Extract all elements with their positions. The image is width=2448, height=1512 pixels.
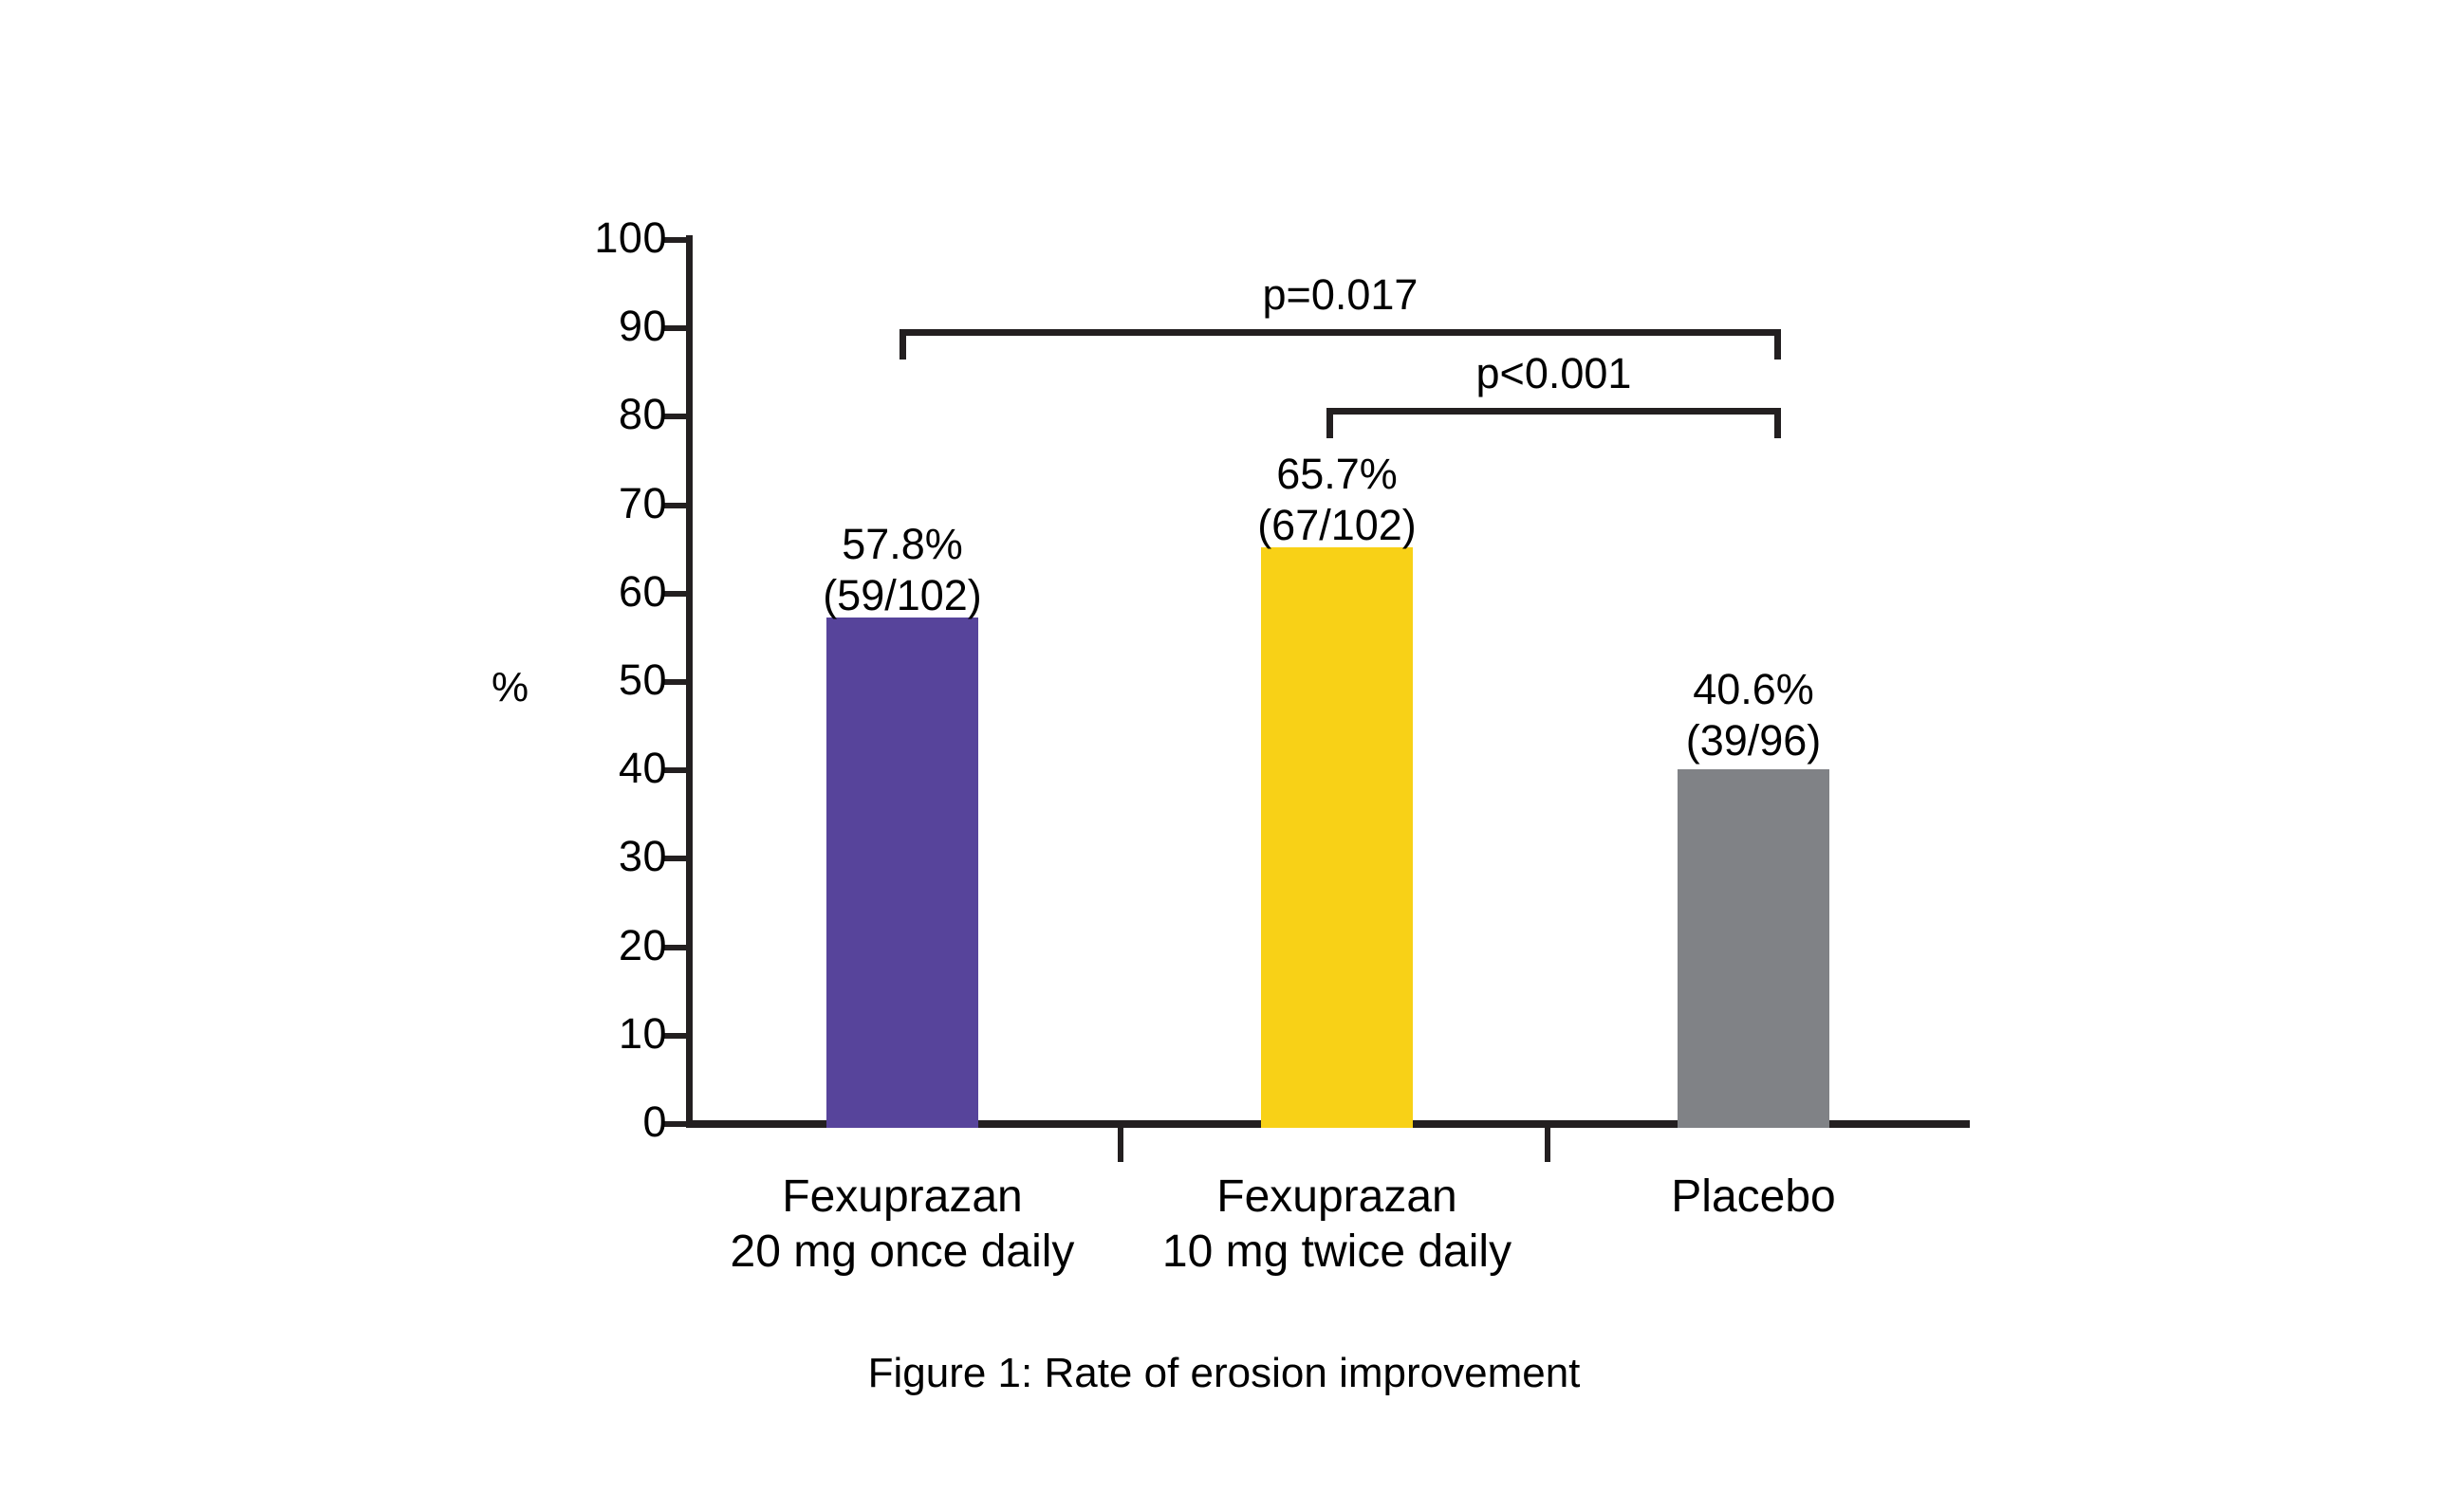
y-axis-label-0: 0: [642, 1100, 667, 1143]
y-axis-tick-40: [664, 767, 687, 773]
y-axis-label-70: 70: [619, 482, 667, 525]
y-axis-label-30: 30: [619, 835, 667, 877]
y-axis-label-40: 40: [619, 747, 667, 789]
y-axis-tick-100: [664, 237, 687, 243]
significance-label-2: p<0.001: [1326, 352, 1781, 395]
bar-value-label-fexuprazan-20mg-once-daily: 57.8% (59/102): [694, 519, 1111, 621]
y-axis-label-10: 10: [619, 1012, 667, 1055]
bar-percent-fexuprazan-10mg-twice-daily: 65.7%: [1128, 449, 1546, 500]
x-axis-category-fexuprazan-20mg-once-daily: Fexuprazan 20 mg once daily: [694, 1170, 1111, 1280]
x-axis-category-fexuprazan-10mg-twice-daily: Fexuprazan 10 mg twice daily: [1128, 1170, 1546, 1280]
category-line1-fexuprazan-10mg-twice-daily: Fexuprazan: [1128, 1170, 1546, 1225]
bar-fraction-fexuprazan-10mg-twice-daily: (67/102): [1128, 500, 1546, 551]
significance-bracket-2-right-end: [1774, 408, 1781, 438]
y-axis-tick-0: [664, 1121, 687, 1127]
y-axis-line: [686, 235, 693, 1128]
bar-percent-placebo: 40.6%: [1545, 664, 1962, 715]
y-axis-label-50: 50: [619, 658, 667, 701]
y-axis-tick-80: [664, 414, 687, 419]
category-line1-fexuprazan-20mg-once-daily: Fexuprazan: [694, 1170, 1111, 1225]
y-axis-label-20: 20: [619, 924, 667, 967]
x-axis-category-placebo: Placebo: [1545, 1170, 1962, 1225]
bar-fraction-fexuprazan-20mg-once-daily: (59/102): [694, 570, 1111, 621]
significance-bracket-2-left-end: [1326, 408, 1333, 438]
bar-percent-fexuprazan-20mg-once-daily: 57.8%: [694, 519, 1111, 570]
significance-bracket-1-bar: [899, 329, 1781, 336]
significance-bracket-2-bar: [1326, 408, 1781, 415]
y-axis-tick-10: [664, 1033, 687, 1039]
y-axis-tick-60: [664, 591, 687, 597]
y-axis-label-80: 80: [619, 393, 667, 435]
bar-fexuprazan-20mg-once-daily[interactable]: [826, 618, 978, 1128]
bar-fexuprazan-10mg-twice-daily[interactable]: [1261, 547, 1413, 1128]
y-axis-tick-90: [664, 325, 687, 331]
significance-label-1: p=0.017: [899, 273, 1781, 316]
significance-bracket-1-left-end: [899, 329, 906, 360]
y-axis-tick-30: [664, 856, 687, 861]
category-line1-placebo: Placebo: [1545, 1170, 1962, 1225]
bar-fraction-placebo: (39/96): [1545, 715, 1962, 766]
y-axis-tick-20: [664, 945, 687, 950]
y-axis-tick-50: [664, 679, 687, 685]
figure-caption: Figure 1: Rate of erosion improvement: [0, 1349, 2448, 1398]
bar-value-label-fexuprazan-10mg-twice-daily: 65.7% (67/102): [1128, 449, 1546, 551]
y-axis-label-100: 100: [594, 216, 667, 259]
figure-container: 100 90 80 70 60 50 40 30 20 10 0 % 57.8%…: [0, 0, 2448, 1512]
category-line2-fexuprazan-10mg-twice-daily: 10 mg twice daily: [1128, 1225, 1546, 1280]
bar-value-label-placebo: 40.6% (39/96): [1545, 664, 1962, 766]
category-line2-fexuprazan-20mg-once-daily: 20 mg once daily: [694, 1225, 1111, 1280]
x-axis-tick-1: [1118, 1128, 1123, 1162]
y-axis-tick-70: [664, 503, 687, 508]
y-axis-label-60: 60: [619, 570, 667, 613]
y-axis-title: %: [491, 667, 529, 709]
bar-placebo[interactable]: [1678, 769, 1829, 1128]
x-axis-tick-2: [1545, 1128, 1550, 1162]
y-axis-label-90: 90: [619, 304, 667, 347]
